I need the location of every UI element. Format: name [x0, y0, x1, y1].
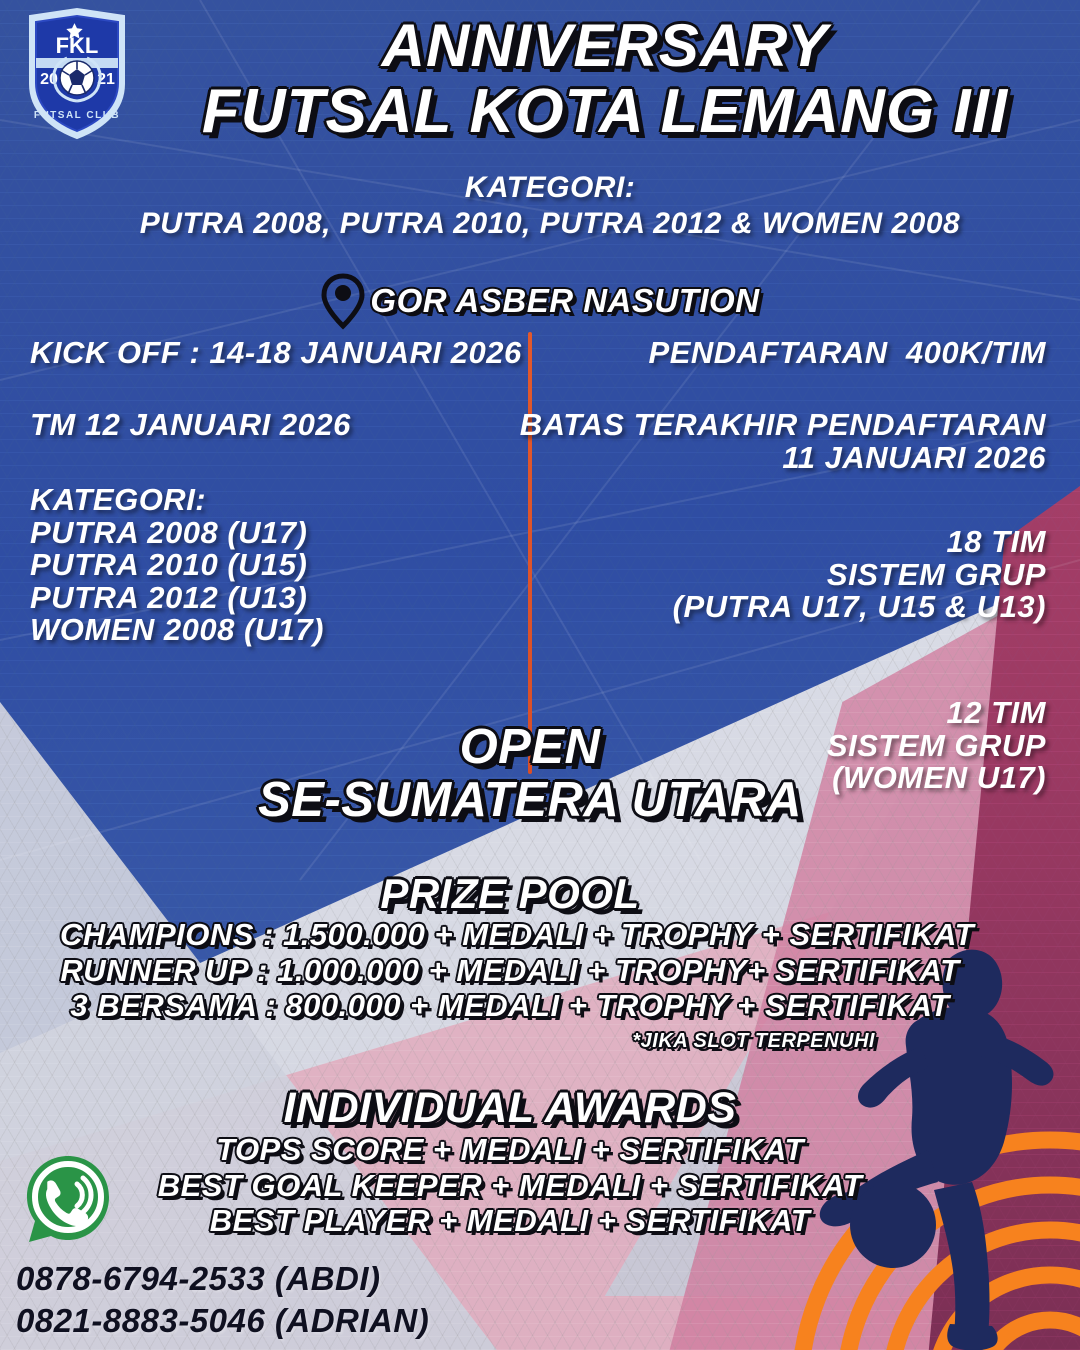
- page-title: ANNIVERSARY FUTSAL KOTA LEMANG III: [150, 14, 1060, 144]
- registration-fee-text: PENDAFTARAN 400K/TIM: [649, 337, 1046, 370]
- individual-award-row: TOPS SCORE + MEDALI + SERTIFIKAT: [130, 1134, 890, 1167]
- individual-award-row: BEST PLAYER + MEDALI + SERTIFIKAT: [130, 1205, 890, 1238]
- title-line-1: ANNIVERSARY: [150, 14, 1060, 77]
- venue-row: GOR ASBER NASUTION: [0, 272, 1080, 330]
- technical-meeting-text: TM 12 JANUARI 2026: [30, 409, 351, 442]
- format-putra-detail: (PUTRA U17, U15 & U13): [673, 591, 1046, 624]
- category-detail-block: KATEGORI: PUTRA 2008 (U17) PUTRA 2010 (U…: [30, 484, 324, 647]
- prize-pool-row: CHAMPIONS : 1.500.000 + MEDALI + TROPHY …: [60, 919, 960, 952]
- category-item: PUTRA 2012 (U13): [30, 582, 324, 615]
- poster-root: FKL 20 21 FUTSAL CLUB ANNIVERSARY FUTSAL…: [0, 0, 1080, 1350]
- format-women-count: 12 TIM: [827, 697, 1046, 730]
- category-item: PUTRA 2010 (U15): [30, 549, 324, 582]
- deadline-label: BATAS TERAKHIR PENDAFTARAN: [520, 409, 1046, 442]
- individual-awards-section: INDIVIDUAL AWARDS TOPS SCORE + MEDALI + …: [130, 1086, 890, 1238]
- prize-pool-section: PRIZE POOL CHAMPIONS : 1.500.000 + MEDAL…: [60, 872, 960, 1052]
- format-women-block: 12 TIM SISTEM GRUP (WOMEN U17): [827, 697, 1046, 795]
- deadline-date: 11 JANUARI 2026: [520, 442, 1046, 475]
- format-women-system: SISTEM GRUP: [827, 730, 1046, 763]
- prize-pool-note: *JIKA SLOT TERPENUHI: [60, 1031, 960, 1052]
- contact-phone[interactable]: 0821-8883-5046 (ADRIAN): [16, 1300, 429, 1342]
- individual-award-row: BEST GOAL KEEPER + MEDALI + SERTIFIKAT: [130, 1170, 890, 1203]
- whatsapp-icon[interactable]: [22, 1152, 114, 1246]
- individual-awards-heading: INDIVIDUAL AWARDS: [130, 1086, 890, 1131]
- category-summary: KATEGORI: PUTRA 2008, PUTRA 2010, PUTRA …: [120, 172, 980, 239]
- category-item: PUTRA 2008 (U17): [30, 517, 324, 550]
- format-putra-count: 18 TIM: [673, 526, 1046, 559]
- category-summary-list: PUTRA 2008, PUTRA 2010, PUTRA 2012 & WOM…: [120, 208, 980, 240]
- contact-phone[interactable]: 0878-6794-2533 (ABDI): [16, 1258, 429, 1300]
- logo-initials: FKL: [56, 33, 99, 58]
- format-women-detail: (WOMEN U17): [827, 762, 1046, 795]
- kick-off-text: KICK OFF : 14-18 JANUARI 2026: [30, 337, 522, 370]
- prize-pool-heading: PRIZE POOL: [60, 872, 960, 916]
- open-banner-line-1: OPEN: [250, 722, 810, 773]
- venue-name: GOR ASBER NASUTION: [370, 284, 759, 319]
- club-logo: FKL 20 21 FUTSAL CLUB: [22, 6, 132, 141]
- prize-pool-row: 3 BERSAMA : 800.000 + MEDALI + TROPHY + …: [60, 990, 960, 1023]
- category-item: WOMEN 2008 (U17): [30, 614, 324, 647]
- title-line-2: FUTSAL KOTA LEMANG III: [150, 79, 1060, 144]
- open-banner: OPEN SE-SUMATERA UTARA: [250, 722, 810, 827]
- logo-club-label: FUTSAL CLUB: [34, 110, 120, 121]
- prize-pool-row: RUNNER UP : 1.000.000 + MEDALI + TROPHY+…: [60, 955, 960, 988]
- vertical-divider: [528, 332, 532, 774]
- format-putra-system: SISTEM GRUP: [673, 559, 1046, 592]
- contact-phone-list: 0878-6794-2533 (ABDI) 0821-8883-5046 (AD…: [16, 1258, 429, 1342]
- category-detail-heading: KATEGORI:: [30, 484, 324, 517]
- soccer-ball-icon: [60, 61, 94, 95]
- category-summary-heading: KATEGORI:: [120, 172, 980, 204]
- format-putra-block: 18 TIM SISTEM GRUP (PUTRA U17, U15 & U13…: [673, 526, 1046, 624]
- location-pin-icon: [320, 272, 366, 330]
- registration-deadline-block: BATAS TERAKHIR PENDAFTARAN 11 JANUARI 20…: [520, 409, 1046, 474]
- open-banner-line-2: SE-SUMATERA UTARA: [250, 775, 810, 826]
